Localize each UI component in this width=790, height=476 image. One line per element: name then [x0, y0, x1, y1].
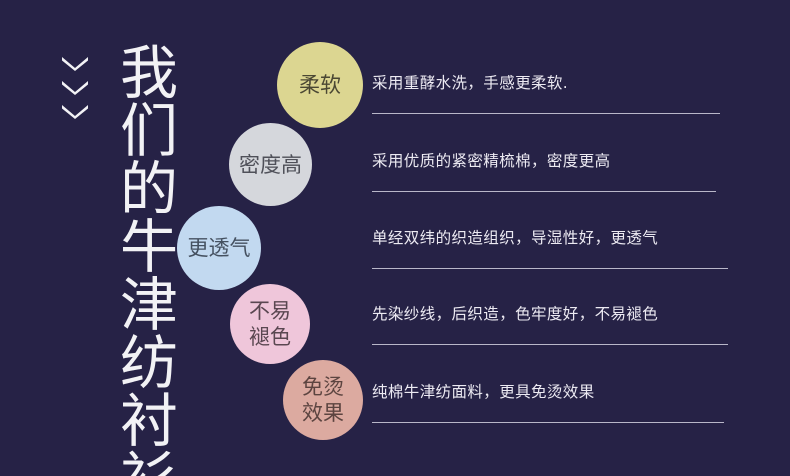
feature-bubble-label: 柔软	[299, 72, 341, 98]
feature-row: 采用重酵水洗，手感更柔软.	[372, 72, 730, 114]
feature-row: 采用优质的紧密精梳棉，密度更高	[372, 150, 730, 192]
feature-bubble-noniron: 免烫 效果	[283, 360, 363, 440]
poster-canvas: 我们的牛津纺衬衫 柔软 密度高 更透气 不易 褪色 免烫 效果 采用重酵水洗，手…	[0, 0, 790, 476]
feature-description: 采用优质的紧密精梳棉，密度更高	[372, 150, 730, 172]
feature-bubble-label: 更透气	[188, 235, 251, 261]
chevron-down-icon	[62, 105, 88, 119]
feature-underline	[372, 113, 720, 114]
feature-row: 纯棉牛津纺面料，更具免烫效果	[372, 381, 730, 423]
feature-bubble-soft: 柔软	[277, 42, 363, 128]
feature-row: 单经双纬的织造组织，导湿性好，更透气	[372, 227, 730, 269]
feature-bubble-breathable: 更透气	[177, 206, 261, 290]
feature-description: 单经双纬的织造组织，导湿性好，更透气	[372, 227, 730, 249]
feature-bubble-label: 不易 褪色	[249, 298, 291, 350]
chevron-decoration	[58, 57, 92, 119]
feature-underline	[372, 268, 728, 269]
feature-bubble-colorfast: 不易 褪色	[230, 284, 310, 364]
feature-description: 纯棉牛津纺面料，更具免烫效果	[372, 381, 730, 403]
chevron-down-icon	[62, 81, 88, 95]
feature-row: 先染纱线，后织造，色牢度好，不易褪色	[372, 303, 730, 345]
feature-description: 先染纱线，后织造，色牢度好，不易褪色	[372, 303, 730, 325]
feature-underline	[372, 344, 728, 345]
page-title: 我们的牛津纺衬衫	[95, 42, 177, 442]
feature-underline	[372, 191, 716, 192]
feature-description: 采用重酵水洗，手感更柔软.	[372, 72, 730, 94]
feature-bubble-label: 免烫 效果	[302, 374, 344, 426]
chevron-down-icon	[62, 57, 88, 71]
feature-underline	[372, 422, 724, 423]
feature-bubble-density: 密度高	[229, 123, 312, 206]
feature-bubble-label: 密度高	[239, 152, 302, 178]
